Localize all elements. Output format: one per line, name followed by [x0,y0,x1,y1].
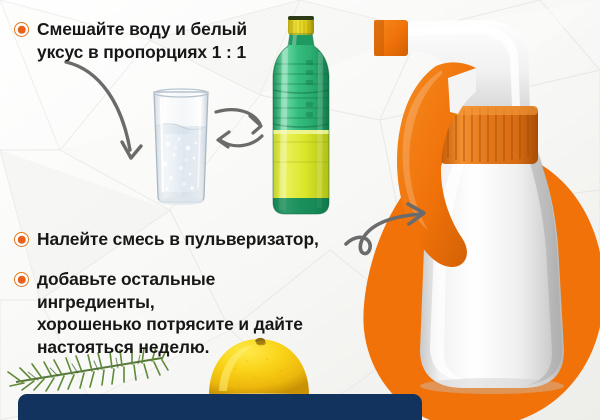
bullet-icon [14,232,29,247]
step-text-2: Налейте смесь в пульверизатор, [37,228,319,251]
step-item-2[interactable]: Налейте смесь в пульверизатор, [14,228,324,251]
bullet-icon [14,272,29,287]
infographic-canvas: Смешайте воду и белый уксус в пропорциях… [0,0,600,420]
step-item-1[interactable]: Смешайте воду и белый уксус в пропорциях… [14,18,314,63]
step-text-1: Смешайте воду и белый уксус в пропорциях… [37,18,247,63]
navy-banner [18,394,422,420]
bullet-icon [14,22,29,37]
spray-bottle-image [372,0,600,394]
step-text-3: добавьте остальные ингредиенты, хорошень… [37,268,334,358]
glass-of-water-image [148,88,214,206]
step-item-3[interactable]: добавьте остальные ингредиенты, хорошень… [14,268,334,358]
